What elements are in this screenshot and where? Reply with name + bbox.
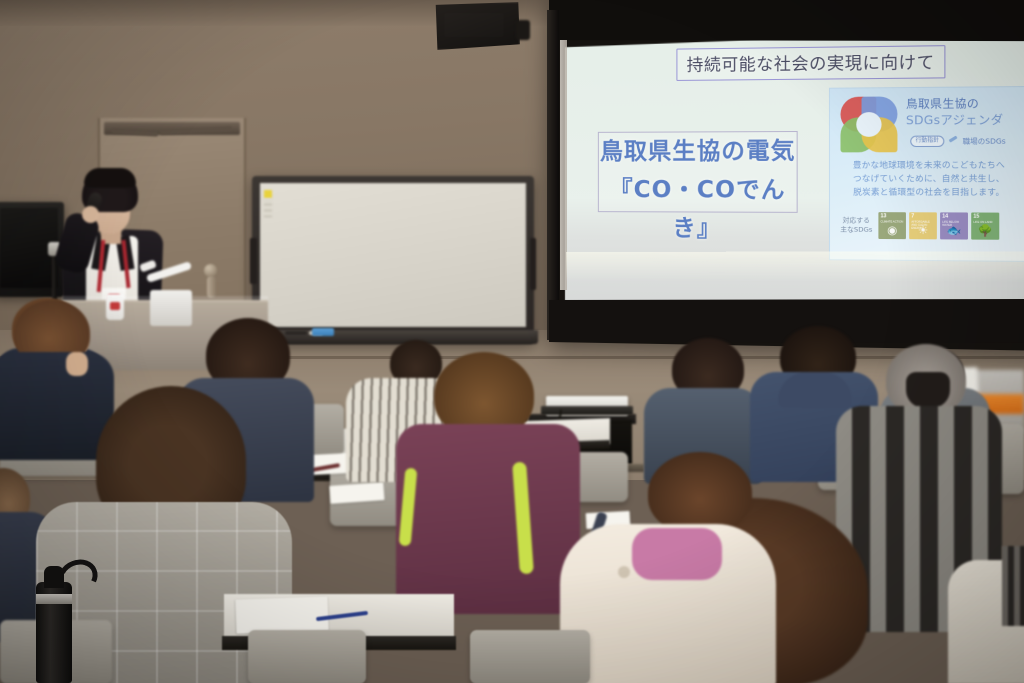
whiteboard-marker-icon[interactable] <box>285 331 307 335</box>
sdg-goal-13-glyph: ◉ <box>887 226 897 237</box>
sdg-goal-14-icon: 14 LIFE BELOW WATER 🐟 <box>940 212 968 239</box>
magnet-yellow-icon <box>264 190 272 198</box>
sdg-goals-label-1: 対応する <box>838 216 874 225</box>
sdg-goal-15-glyph: 🌳 <box>978 226 993 238</box>
attendee-torso <box>396 424 580 614</box>
sdg-goal-7-icon: 7 AFFORDABLE AND CLEAN ENERGY ☀ <box>909 212 937 239</box>
sdg-agenda-panel: 鳥取県生協の SDGsアジェンダ 行動指針 職場のSDGs 豊かな地球環境を未来… <box>829 86 1024 262</box>
slide-main-line-2: 『CO・COでんき』 <box>599 171 797 249</box>
sdg-goal-13-number: 13 <box>881 214 904 219</box>
thermos-ring <box>36 594 72 604</box>
logo-center <box>856 112 881 137</box>
whiteboard-surface[interactable] <box>260 183 526 327</box>
sdg-goal-15-name: LIFE ON LAND <box>973 221 997 224</box>
sdg-goal-15-number: 15 <box>973 215 997 220</box>
sdg-body-line-2: つなげていくために、自然と共生し、 <box>838 172 1019 186</box>
attendee-hand <box>66 352 88 376</box>
sdg-body-text: 豊かな地球環境を未来のこどもたちへ つなげていくために、自然と共生し、 脱炭素と… <box>838 158 1019 199</box>
chair[interactable] <box>470 630 590 683</box>
slide-title: 持続可能な社会の実現に向けて <box>687 53 935 75</box>
whiteboard-eraser-icon[interactable] <box>312 328 334 336</box>
sdg-goals-label-2: 主なSDGs <box>838 225 874 234</box>
sdg-panel-heading: 鳥取県生協の SDGsアジェンダ <box>906 95 1024 128</box>
whiteboard-rail-left <box>250 238 257 284</box>
handout-paper[interactable] <box>235 596 328 633</box>
speaker-mount <box>516 20 530 40</box>
pencil-icon <box>948 137 960 146</box>
sdg-goal-13-name: CLIMATE ACTION <box>881 220 904 223</box>
sdg-heading-line-1: 鳥取県生協の <box>906 95 1024 111</box>
sdg-action-badge: 行動指針 職場のSDGs <box>910 135 1005 147</box>
cardigan-button <box>618 566 630 578</box>
whiteboard-rail-right <box>530 238 536 290</box>
sdg-goal-15-icon: 15 LIFE ON LAND 🌳 <box>971 212 999 239</box>
presenter-hand <box>82 206 99 223</box>
attendee-inner-top <box>632 528 722 580</box>
presenter-hair-fringe <box>84 168 136 188</box>
magnet-stack <box>264 199 272 217</box>
screen-masking-bottom <box>549 299 1024 343</box>
sdg-heading-line-2: SDGsアジェンダ <box>906 111 1024 128</box>
sdg-badge-pill: 行動指針 <box>910 136 944 148</box>
paper-cup-logo <box>110 302 120 310</box>
sdg-goal-7-number: 7 <box>911 214 934 219</box>
sdg-body-line-1: 豊かな地球環境を未来のこどもたちへ <box>838 158 1019 172</box>
sdg-goals-label: 対応する 主なSDGs <box>838 216 874 235</box>
attendee-hood <box>778 372 852 408</box>
screen-rail-left <box>547 10 559 340</box>
slide-main-heading-box: 鳥取県生協の電気 『CO・COでんき』 <box>598 131 798 213</box>
slide-content: 持続可能な社会の実現に向けて 鳥取県生協の電気 『CO・COでんき』 鳥取県生協… <box>566 27 1024 323</box>
door-handle[interactable] <box>207 276 216 298</box>
sdg-goal-tiles: 13 CLIMATE ACTION ◉ 7 AFFORDABLE AND CLE… <box>878 212 999 240</box>
sdg-goals-row: 対応する 主なSDGs 13 CLIMATE ACTION ◉ 7 AFFORD… <box>838 212 1022 240</box>
chair[interactable] <box>248 630 366 683</box>
coop-logo-icon <box>838 94 899 154</box>
document-camera-base <box>150 290 192 326</box>
attendee-hair <box>648 452 752 534</box>
sdg-goal-14-glyph: 🐟 <box>947 226 962 238</box>
speaker-grille <box>444 14 504 38</box>
sdg-goal-7-glyph: ☀ <box>918 226 929 237</box>
sdg-body-line-3: 脱炭素と循環型の社会を目指します。 <box>838 185 1019 199</box>
slide-main-line-1: 鳥取県生協の電気 <box>599 132 797 171</box>
slide-title-box: 持続可能な社会の実現に向けて <box>676 45 945 81</box>
sdg-badge-text: 職場のSDGs <box>963 136 1006 147</box>
sdg-goal-13-icon: 13 CLIMATE ACTION ◉ <box>878 212 906 239</box>
handout-paper[interactable] <box>329 482 384 504</box>
attendee-sleeve-striped <box>1002 546 1024 626</box>
sdg-goal-14-number: 14 <box>942 214 966 219</box>
seminar-room-photo: 持続可能な社会の実現に向けて 鳥取県生協の電気 『CO・COでんき』 鳥取県生協… <box>0 0 1024 683</box>
face-mask-icon <box>906 372 950 408</box>
